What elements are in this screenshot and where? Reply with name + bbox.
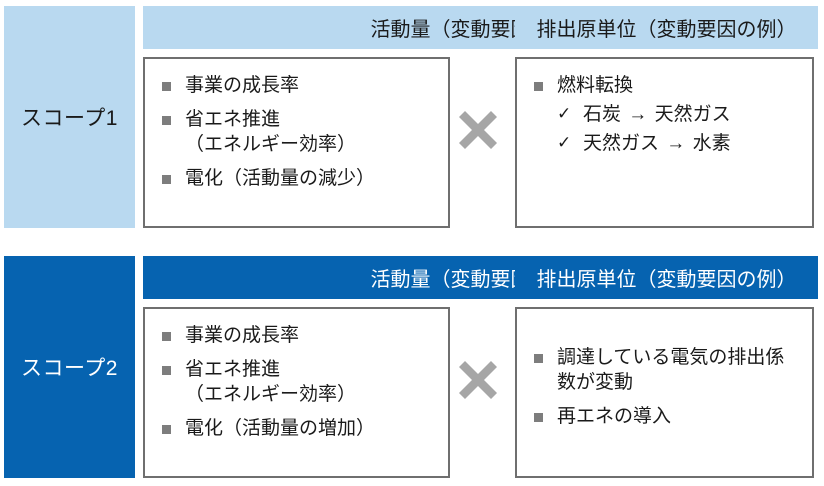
square-bullet-icon xyxy=(162,332,171,341)
sub-item-to: 水素 xyxy=(693,133,731,154)
header-band-scope2-intensity: 排出原単位（変動要因の例） xyxy=(515,256,818,299)
sub-list-item: ✓ 天然ガス → 水素 xyxy=(557,131,802,157)
header-text-scope1-intensity: 排出原単位（変動要因の例） xyxy=(537,13,797,42)
check-bullet-icon: ✓ xyxy=(557,131,571,154)
list-item: 電化（活動量の減少） xyxy=(159,166,438,191)
panel-scope1-intensity: 燃料転換 ✓ 石炭 → 天然ガス ✓ 天然ガス → 水素 xyxy=(515,57,814,228)
sub-list-fuel-switch: ✓ 石炭 → 天然ガス ✓ 天然ガス → 水素 xyxy=(557,102,802,157)
list-item-text: 電化（活動量の増加） xyxy=(185,418,375,439)
bullet-list-scope1-intensity: 燃料転換 ✓ 石炭 → 天然ガス ✓ 天然ガス → 水素 xyxy=(531,73,802,157)
multiply-x-marker-scope1 xyxy=(456,108,500,152)
list-item-text: 電化（活動量の減少） xyxy=(185,168,375,189)
square-bullet-icon xyxy=(534,413,543,422)
list-item-text: 事業の成長率 xyxy=(185,75,299,96)
list-item-text: 省エネ推進 xyxy=(185,359,280,380)
list-item: 事業の成長率 xyxy=(159,323,438,348)
sub-item-from: 石炭 xyxy=(583,104,621,125)
list-item: 省エネ推進 （エネルギー効率） xyxy=(159,357,438,407)
list-item-text: 省エネ推進 xyxy=(185,109,280,130)
header-band-scope1-intensity: 排出原単位（変動要因の例） xyxy=(515,6,818,49)
scope-label-cell-scope2: スコープ2 xyxy=(4,256,135,478)
square-bullet-icon xyxy=(162,116,171,125)
list-item-continuation: （エネルギー効率） xyxy=(185,132,438,157)
list-item: 調達している電気の排出係数が変動 xyxy=(531,345,802,395)
list-item: 再エネの導入 xyxy=(531,404,802,429)
arrow-right-icon: → xyxy=(664,133,687,154)
list-item: 電化（活動量の増加） xyxy=(159,416,438,441)
square-bullet-icon xyxy=(534,354,543,363)
list-item-text: 再エネの導入 xyxy=(557,406,671,427)
square-bullet-icon xyxy=(534,82,543,91)
square-bullet-icon xyxy=(162,175,171,184)
panel-scope2-intensity: 調達している電気の排出係数が変動 再エネの導入 xyxy=(515,307,814,478)
list-item-text: 燃料転換 xyxy=(557,75,633,96)
sub-item-to: 天然ガス xyxy=(655,104,731,125)
header-text-scope2-intensity: 排出原単位（変動要因の例） xyxy=(537,263,797,292)
bullet-list-scope1-activity: 事業の成長率 省エネ推進 （エネルギー効率） 電化（活動量の減少） xyxy=(159,73,438,191)
scope-label-cell-scope1: スコープ1 xyxy=(4,6,135,228)
square-bullet-icon xyxy=(162,425,171,434)
sub-list-item: ✓ 石炭 → 天然ガス xyxy=(557,102,802,128)
list-item: 燃料転換 ✓ 石炭 → 天然ガス ✓ 天然ガス → 水素 xyxy=(531,73,802,157)
list-item-continuation: （エネルギー効率） xyxy=(185,382,438,407)
square-bullet-icon xyxy=(162,82,171,91)
list-item: 省エネ推進 （エネルギー効率） xyxy=(159,107,438,157)
list-item: 事業の成長率 xyxy=(159,73,438,98)
scope-label-text-scope2: スコープ2 xyxy=(21,352,118,382)
square-bullet-icon xyxy=(162,366,171,375)
check-bullet-icon: ✓ xyxy=(557,102,571,125)
scope-label-text-scope1: スコープ1 xyxy=(21,102,118,132)
list-item-text: 調達している電気の排出係数が変動 xyxy=(557,347,784,393)
sub-item-from: 天然ガス xyxy=(583,133,659,154)
bullet-list-scope2-intensity: 調達している電気の排出係数が変動 再エネの導入 xyxy=(531,345,802,429)
multiply-x-marker-scope2 xyxy=(456,358,500,402)
list-item-text: 事業の成長率 xyxy=(185,325,299,346)
panel-scope2-activity: 事業の成長率 省エネ推進 （エネルギー効率） 電化（活動量の増加） xyxy=(143,307,450,478)
panel-scope1-activity: 事業の成長率 省エネ推進 （エネルギー効率） 電化（活動量の減少） xyxy=(143,57,450,228)
diagram-canvas: スコープ1 活動量（変動要因の例） 排出原単位（変動要因の例） 事業の成長率 省… xyxy=(0,0,824,486)
bullet-list-scope2-activity: 事業の成長率 省エネ推進 （エネルギー効率） 電化（活動量の増加） xyxy=(159,323,438,441)
arrow-right-icon: → xyxy=(626,104,649,125)
